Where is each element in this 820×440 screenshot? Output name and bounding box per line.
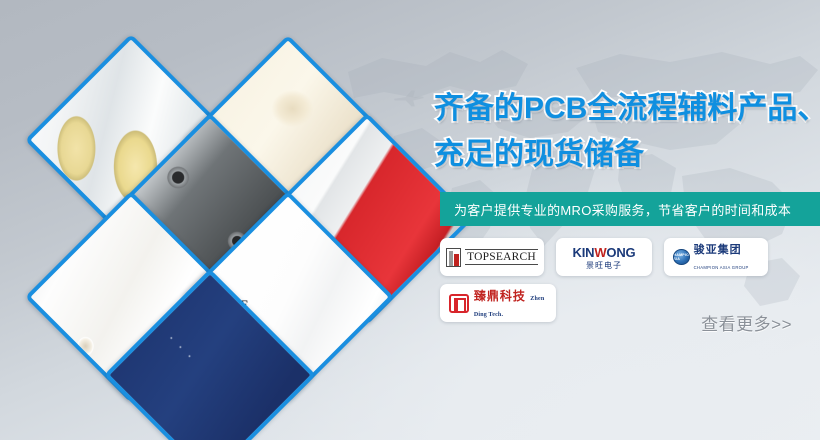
- topsearch-mark-icon: [446, 248, 461, 267]
- globe-icon: CHAMPION ASIA: [673, 249, 690, 265]
- kinwong-chinese-name: 景旺电子: [573, 262, 636, 270]
- partner-logo-topsearch[interactable]: TOPSEARCH: [440, 238, 544, 276]
- partner-logo-kinwong[interactable]: KINWONG 景旺电子: [556, 238, 652, 276]
- partner-logo-zhen-ding[interactable]: 臻鼎科技 Zhen Ding Tech.: [440, 284, 556, 322]
- headline-line-1: 齐备的PCB全流程辅料产品、: [434, 92, 820, 125]
- zhen-ding-mark-icon: [449, 294, 469, 313]
- banner-subtitle-bar: 为客户提供专业的MRO采购服务，节省客户的时间和成本: [440, 192, 820, 226]
- promo-banner: JIE 齐备的PCB全流程辅料产品、 充足的现货储备 为客户提供专业的MRO采购…: [0, 0, 820, 440]
- topsearch-wordmark: TOPSEARCH: [465, 249, 538, 265]
- champion-chinese-name: 骏亚集团: [694, 244, 742, 256]
- partner-logo-row-1: TOPSEARCH KINWONG 景旺电子 CHAMPION ASIA 骏亚集…: [440, 238, 820, 276]
- banner-headline: 齐备的PCB全流程辅料产品、 充足的现货储备: [434, 86, 820, 178]
- kinwong-word-w: W: [594, 245, 606, 260]
- headline-line-2: 充足的现货储备: [434, 132, 820, 178]
- banner-subtitle: 为客户提供专业的MRO采购服务，节省客户的时间和成本: [454, 200, 791, 219]
- champion-english-name: CHAMPION ASIA GROUP: [694, 265, 749, 270]
- globe-label: CHAMPION ASIA: [673, 253, 690, 261]
- view-more-link[interactable]: 查看更多>>: [701, 310, 792, 335]
- kinwong-word-b: ONG: [606, 245, 635, 260]
- partner-logo-champion-asia[interactable]: CHAMPION ASIA 骏亚集团 CHAMPION ASIA GROUP: [664, 238, 768, 276]
- banner-content: 齐备的PCB全流程辅料产品、 充足的现货储备 为客户提供专业的MRO采购服务，节…: [430, 0, 820, 440]
- zhen-ding-chinese-name: 臻鼎科技: [474, 289, 526, 303]
- kinwong-word-a: KIN: [573, 245, 595, 260]
- kinwong-wordmark: KINWONG: [573, 245, 636, 260]
- product-collage: JIE: [0, 0, 430, 440]
